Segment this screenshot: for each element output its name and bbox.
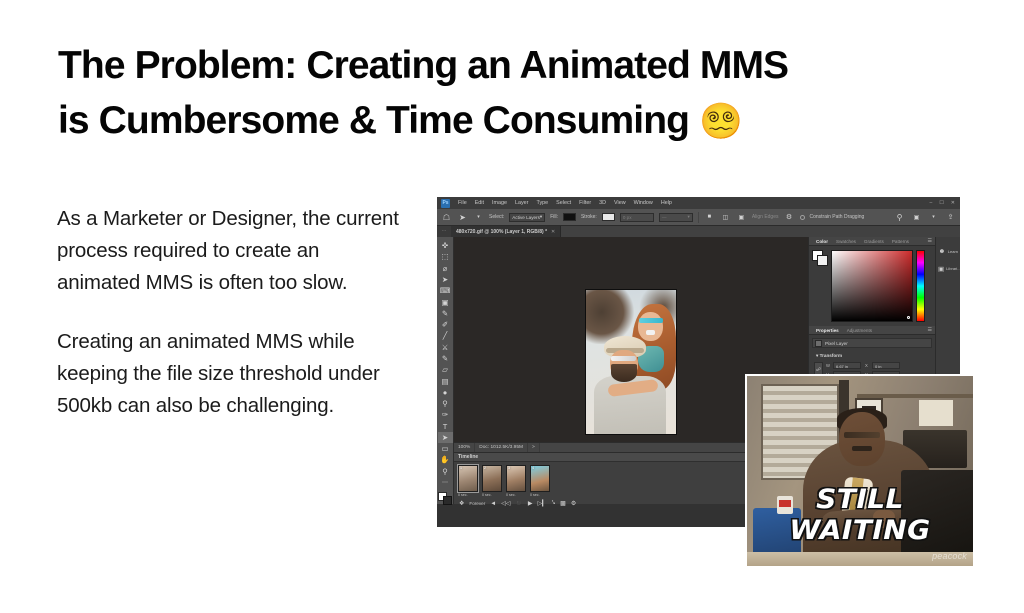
select-label: Select: [489,214,504,220]
meme-person-glasses [844,432,880,438]
stroke-width-field[interactable]: 0 px [620,213,654,222]
zoom-tool-icon[interactable]: ⚲ [438,466,453,477]
menu-item-filter[interactable]: Filter [575,197,595,209]
stroke-label: Stroke: [581,214,597,220]
transform-section-title[interactable]: ▾ Transform [812,351,932,362]
blur-tool-icon[interactable]: ● [438,387,453,398]
rail-label-libraries: Librari... [946,266,960,271]
window-controls: – ☐ ✕ [930,197,960,209]
rectangle-tool-icon[interactable]: ▭ [438,443,453,454]
path-operations-icon[interactable]: ■ [704,212,715,223]
layer-type-label: Pixel Layer [825,341,848,346]
tab-gradients[interactable]: Gradients [860,237,888,246]
edit-toolbar-icon[interactable]: ⋯ [438,477,453,488]
close-icon[interactable]: ✕ [551,229,555,235]
photo-woman-face [638,312,663,341]
frame-delay[interactable]: 0 sec. [482,493,492,497]
frame-delay[interactable]: 0 sec. [530,493,540,497]
next-frame-button[interactable]: ▷▎ [538,500,547,507]
dodge-tool-icon[interactable]: ⚲ [438,398,453,409]
meme-gif-overlay: STILL WAITING peacock [745,374,973,566]
stroke-style-value: — [662,215,667,220]
home-icon[interactable]: ☖ [441,212,452,223]
frame-thumbnail: 3 [506,465,526,492]
x-value: 0 in [872,362,900,369]
chevron-down-icon: ▾ [688,214,690,220]
arrange-documents-icon[interactable]: ▣ [911,212,922,223]
photoshop-menu-bar: Ps File Edit Image Layer Type Select Fil… [437,197,960,209]
fill-label: Fill: [550,214,558,220]
active-layers-dropdown[interactable]: Active Layers ▾ [509,213,545,222]
tab-bar-handle-icon: ⋯ [437,226,451,237]
body-paragraph-2: Creating an animated MMS while keeping t… [57,326,407,422]
timeline-frame[interactable]: 1 0 sec. [458,465,478,497]
minimize-button[interactable]: – [930,197,933,209]
type-tool-icon[interactable]: T [438,421,453,432]
width-value: 6.67 in [833,362,861,369]
options-bar-right-group: ⚲ ▣ ▾ ⇪ [894,212,956,223]
title-line-2: is Cumbersome & Time Consuming [58,99,689,142]
document-tab-title: 480x720.gif @ 100% (Layer 1, RGB/8) * [456,229,547,235]
gradient-tool-icon[interactable]: ▤ [438,375,453,386]
rail-item-libraries[interactable]: ▣ Librari... [936,260,960,277]
frame-number: 3 [508,466,510,470]
width-field[interactable]: W 6.67 in [826,362,861,369]
photoshop-toolbar: ✜ ⬚ ⌀ ➤ ⌨ ▣ ✎ ✐ ╱ ⚔ ✎ ▱ ▤ ● ⚲ ✑ T ➤ ▭ ✋ [437,237,454,504]
frame-thumbnail: 2 [482,465,502,492]
color-chips[interactable] [812,250,828,266]
body-paragraph-1: As a Marketer or Designer, the current p… [57,203,407,299]
tab-patterns[interactable]: Patterns [888,237,913,246]
transform-row-1: W 6.67 in X 0 in [826,362,900,369]
menu-item-window[interactable]: Window [630,197,657,209]
meme-wall-paper [919,400,953,426]
stop-button[interactable]: ◾ [515,500,522,507]
tab-color[interactable]: Color [812,237,832,246]
object-selection-tool-icon[interactable]: ➤ [438,274,453,285]
meme-person-head [839,412,885,466]
foreground-background-color[interactable] [438,492,452,504]
frame-meta: 0 sec. [506,493,526,497]
menu-item-select[interactable]: Select [552,197,575,209]
dizzy-face-emoji-icon: 😵‍💫 [699,102,743,141]
path-arrangement-icon[interactable]: ▣ [736,212,747,223]
crop-tool-icon[interactable]: ⌨ [438,285,453,296]
photo-man-sunglasses [611,356,636,361]
panel-menu-icon[interactable]: ☰ [928,327,935,333]
photoshop-app-icon: Ps [441,199,450,208]
frame-meta: 0 sec. [530,493,550,497]
clone-stamp-tool-icon[interactable]: ⚔ [438,342,453,353]
width-key: W [826,363,831,368]
document-tab-bar: ⋯ 480x720.gif @ 100% (Layer 1, RGB/8) * … [437,226,960,237]
divider [698,212,699,223]
chevron-down-icon: ▾ [540,214,542,220]
frame-number: 4 [532,466,534,470]
menu-item-edit[interactable]: Edit [471,197,488,209]
status-chevron-icon[interactable]: > [528,443,540,453]
tween-button[interactable]: ⤥ [552,500,555,507]
zoom-level[interactable]: 100% [454,443,475,453]
stroke-color-swatch[interactable] [602,213,615,221]
page-title: The Problem: Creating an Animated MMS is… [58,38,968,149]
eraser-tool-icon[interactable]: ▱ [438,364,453,375]
layer-type-row: Pixel Layer [812,338,932,348]
lightbulb-icon: ☻ [938,247,946,256]
document-size[interactable]: Doc: 1012.5K/3.95M [475,443,528,453]
fill-color-swatch[interactable] [563,213,576,221]
select-frame-icon[interactable]: ❖ [459,500,464,507]
tool-preset-chevron-down-icon[interactable]: ▾ [473,212,484,223]
frame-tool-icon[interactable]: ▣ [438,296,453,307]
search-icon[interactable]: ⚲ [894,212,905,223]
tab-adjustments[interactable]: Adjustments [843,326,876,335]
color-panel-tabs: Color Swatches Gradients Patterns ☰ [809,237,935,246]
delete-frame-button[interactable]: ⚙ [571,500,576,507]
meme-person-mustache [852,446,872,451]
move-tool-icon[interactable]: ✜ [438,240,453,251]
rail-label-learn: Learn [948,249,958,254]
brush-tool-icon[interactable]: ╱ [438,330,453,341]
meme-caption: STILL WAITING [745,484,973,546]
hand-tool-icon[interactable]: ✋ [438,454,453,465]
menu-item-layer[interactable]: Layer [511,197,533,209]
photoshop-options-bar: ☖ ➤ ▾ Select: Active Layers ▾ Fill: Stro… [437,209,960,226]
rectangular-marquee-tool-icon[interactable]: ⬚ [438,251,453,262]
frame-delay[interactable]: 0 sec. [458,493,468,497]
share-icon[interactable]: ⇪ [945,212,956,223]
chevron-down-icon[interactable]: ▾ [928,212,939,223]
frame-number: 2 [484,466,486,470]
color-picker-marker [907,316,910,319]
transform-label: Transform [820,353,842,358]
menu-item-file[interactable]: File [454,197,471,209]
frame-meta: 0 sec. [482,493,502,497]
photo-woman-smile [646,330,655,335]
frame-thumbnail: 4 [530,465,550,492]
background-color-swatch[interactable] [443,496,452,505]
timeline-frame[interactable]: 2 0 sec. [482,465,502,497]
artboard-image [585,289,677,435]
color-picker-field[interactable] [831,250,913,322]
constrain-path-dragging-checkbox[interactable] [800,215,805,220]
meme-watermark: peacock [932,551,967,561]
stroke-width-value: 0 px [623,215,632,220]
menu-item-3d[interactable]: 3D [595,197,610,209]
gear-icon[interactable]: ⚙ [784,212,795,223]
lasso-tool-icon[interactable]: ⌀ [438,263,453,274]
active-layers-value: Active Layers [512,215,540,220]
color-panel-body [809,246,935,326]
rail-item-learn[interactable]: ☻ Learn [936,243,960,260]
timeline-frame[interactable]: 3 0 sec. [506,465,526,497]
pixel-layer-icon [815,340,822,347]
stroke-style-dropdown[interactable]: — ▾ [659,213,693,222]
menu-item-help[interactable]: Help [657,197,676,209]
frame-meta: 0 sec. [458,493,478,497]
close-button[interactable]: ✕ [951,197,955,209]
timeline-frame[interactable]: 4 0 sec. [530,465,550,497]
move-tool-icon[interactable]: ➤ [457,212,468,223]
frame-delay[interactable]: 0 sec. [506,493,516,497]
photo-woman-sunglasses [639,318,663,323]
align-edges-label[interactable]: Align Edges [752,214,779,220]
path-alignment-icon[interactable]: ◫ [720,212,731,223]
eyedropper-tool-icon[interactable]: ✎ [438,308,453,319]
duplicate-frame-button[interactable]: ▩ [560,500,566,507]
slide: The Problem: Creating an Animated MMS is… [0,0,1024,613]
x-key: X [865,363,870,368]
first-frame-button[interactable]: ◄ [490,501,496,507]
spot-healing-brush-tool-icon[interactable]: ✐ [438,319,453,330]
history-brush-tool-icon[interactable]: ✎ [438,353,453,364]
menu-item-view[interactable]: View [610,197,630,209]
x-field[interactable]: X 0 in [865,362,900,369]
background-color-swatch[interactable] [817,255,828,266]
pen-tool-icon[interactable]: ✑ [438,409,453,420]
frame-number: 1 [460,466,462,470]
tab-properties[interactable]: Properties [812,326,843,335]
properties-panel-tabs: Properties Adjustments ☰ [809,326,935,335]
maximize-button[interactable]: ☐ [939,197,943,209]
photo-man-beard [611,364,637,382]
body-copy: As a Marketer or Designer, the current p… [57,203,407,422]
book-icon: ▣ [938,264,944,273]
menu-item-type[interactable]: Type [532,197,552,209]
menu-item-image[interactable]: Image [488,197,511,209]
frame-thumbnail: 1 [458,465,478,492]
title-line-1: The Problem: Creating an Animated MMS [58,44,788,87]
document-tab[interactable]: 480x720.gif @ 100% (Layer 1, RGB/8) * ✕ [451,226,561,237]
hue-slider[interactable] [916,250,925,322]
panel-menu-icon[interactable]: ☰ [928,238,935,244]
path-selection-tool-icon[interactable]: ➤ [438,432,453,443]
constrain-path-dragging-label: Constrain Path Dragging [810,214,865,220]
app-icon-label: Ps [442,201,448,206]
tab-swatches[interactable]: Swatches [832,237,860,246]
previous-frame-button[interactable]: ◁◁ [501,500,510,507]
play-button[interactable]: ▶ [528,500,533,507]
timeline-panel-title: Timeline [458,454,478,460]
loop-option-dropdown[interactable]: Forever [469,501,485,506]
